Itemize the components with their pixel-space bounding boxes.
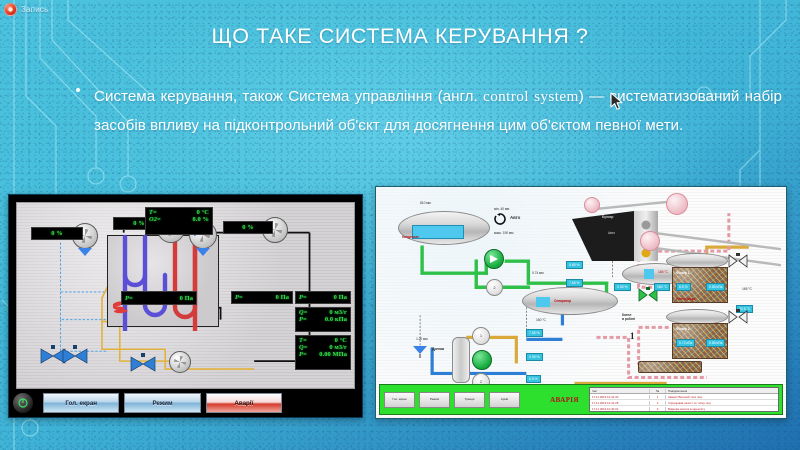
readout-damper-right: 0 %	[223, 221, 273, 234]
label-auto-mode: Авто	[510, 215, 520, 220]
valve-group-mid	[129, 353, 171, 375]
readout-gas-press-2-value: 0 Па	[334, 294, 347, 301]
regen-heater-bed	[638, 361, 702, 373]
readout-gas-press-2-label: P=	[299, 294, 307, 301]
instrument-indicator-2: 1	[472, 327, 490, 345]
label-condensate: Конденсат	[402, 235, 419, 239]
button-mode[interactable]: Режим	[124, 393, 200, 413]
label-separator-tag: 160 °C	[536, 318, 546, 322]
pulley-1	[584, 197, 600, 213]
readout-damper-left-value: 0 %	[51, 230, 62, 237]
boiler-mimic-panel: 0 % 0 % 0 % T= 0 °C O2= 0.0 % P= 0	[16, 202, 355, 389]
label-buffer-tag: 165 °C	[658, 270, 668, 274]
pump-arrow-icon	[488, 253, 500, 265]
button-main-screen[interactable]: Гол. екран	[384, 392, 415, 408]
scada-screenshot-boiler: 0 % 0 % 0 % T= 0 °C O2= 0.0 % P= 0	[8, 194, 363, 418]
boiler-button-bar: Гол. екран Режим Аварії	[43, 391, 282, 415]
readout-damper-left: 0 %	[31, 227, 83, 240]
tag-line-2: 0.05 %	[526, 353, 543, 361]
tag-filter-2-b: 0.85 кПа	[706, 339, 725, 347]
drain-valve-icon	[412, 345, 428, 359]
pulley-3	[640, 231, 660, 251]
label-filter-2: Фільтр 2	[676, 327, 690, 331]
readout-oxygen: O2= 0.0 %	[149, 216, 209, 223]
label-boiler-in-work: Котел в роботі	[622, 313, 635, 321]
label-pipe-d-1: 0.74 мм	[532, 271, 544, 275]
alarm-row-num: 2	[650, 401, 666, 405]
readout-gas-temp: T= 0 °C	[299, 337, 347, 344]
instrument-indicator-1: 2	[486, 279, 503, 296]
vertical-cylinder	[452, 337, 470, 383]
readout-furnace-press-value: 0 Па	[180, 295, 193, 302]
recording-indicator: Запись	[4, 3, 48, 16]
bullet-text-english: control system	[483, 88, 579, 105]
label-separator: Сепаратор	[554, 299, 571, 303]
alarm-table[interactable]: Час № Повідомлення 17.11.2019 10:41:30 1…	[589, 387, 779, 412]
readout-air-flow: Q= 0 м3/г	[299, 309, 347, 316]
label-auto-setpoint-1: мін. 40 мм	[494, 207, 509, 211]
tag-line-1: 7.65 %	[526, 329, 543, 337]
alarm-row-num: 3	[650, 407, 666, 411]
power-knob[interactable]	[12, 392, 34, 414]
readout-gas-flow-value: 0 м3/г	[329, 344, 347, 351]
readout-flue-block: T= 0 °C O2= 0.0 %	[145, 207, 213, 235]
alarm-col-num: №	[650, 389, 666, 393]
tag-valve-1: 0.85 %	[566, 261, 583, 269]
button-archive[interactable]: Архів	[489, 392, 520, 408]
alarm-col-time: Час	[590, 389, 650, 393]
readout-furnace-press: P= 0 Па	[121, 291, 197, 305]
button-home-screen[interactable]: Гол. екран	[43, 393, 119, 413]
button-alarms[interactable]: Аварії	[206, 393, 282, 413]
label-filter-1: Фільтр 1	[676, 271, 690, 275]
label-auto-setpoint-2: макс. 190 мм	[494, 231, 513, 235]
gauge-fan-bottom	[169, 351, 191, 373]
readout-gas-flow: Q= 0 м3/г	[299, 344, 347, 351]
valve-adsorber-1	[728, 253, 748, 269]
label-regeneration: Регенерація	[676, 297, 695, 301]
tag-valve-3: 0.05 %	[614, 283, 631, 291]
alarm-row-msg: Спрацював захист по тиску газу	[666, 401, 778, 405]
label-pipe-d-2: 1.20 мм	[416, 337, 428, 341]
alarm-row-time: 17.11.2019 10:41:28	[590, 401, 650, 405]
readout-flue-temp-value: 0 °C	[197, 209, 209, 216]
readout-air-block: Q= 0 м3/г P= 0.0 кПа	[295, 307, 351, 332]
alarm-row-msg: Аварія! Високий тиск газу	[666, 395, 778, 399]
readout-flue-temp: T= 0 °C	[149, 209, 209, 216]
tag-filter-1-a: 6.5 %	[676, 283, 691, 291]
bullet-text: Система керування, також Система управлі…	[94, 82, 782, 140]
tag-filter-2-a: 0.72 кПа	[676, 339, 695, 347]
scada-screenshot-gas-plant: 810 мм Конденсат мін. 40 мм макс. 190 мм…	[375, 186, 787, 419]
button-trends[interactable]: Тренди	[454, 392, 485, 408]
tag-valve-2: 7.65 %	[566, 279, 583, 287]
readout-gas-flow-label: Q=	[299, 344, 307, 351]
bullet-block: Система керування, також Система управлі…	[76, 82, 782, 140]
readout-gas-press-mpa-value: 0.00 МПа	[319, 351, 347, 358]
auto-cycle-icon	[494, 213, 506, 225]
label-bunker-auto: Авто	[608, 231, 615, 235]
readout-damper-mid-value: 0 %	[133, 220, 144, 227]
readout-gas-temp-label: T=	[299, 337, 307, 344]
button-modes[interactable]: Режим	[419, 392, 450, 408]
valve-adsorber-2	[728, 309, 748, 325]
label-drain: Дренаж	[432, 347, 444, 351]
readout-air-press-value: 0 Па	[276, 294, 289, 301]
readout-damper-right-value: 0 %	[242, 224, 253, 231]
readout-gas-press-mpa-label: P=	[299, 351, 307, 358]
readout-gas-temp-value: 0 °C	[335, 337, 347, 344]
label-boiler-number: 1	[630, 331, 635, 341]
readout-air-flow-label: Q=	[299, 309, 307, 316]
tag-line-3: 6.5 %	[526, 375, 541, 383]
alarm-row-msg: Відмова насоса конденсату	[666, 407, 778, 411]
readout-air-flow-value: 0 м3/г	[329, 309, 347, 316]
tag-valve-6: 160 °C	[654, 283, 670, 291]
alarm-word: АВАРІЯ	[550, 396, 579, 404]
bullet-text-part1: Система керування, також Система управлі…	[94, 88, 483, 105]
readout-oxygen-value: 0.0 %	[193, 216, 209, 223]
damper-left-icon	[77, 247, 93, 257]
readout-air-press-kpa-value: 0.0 кПа	[325, 316, 347, 323]
slide-canvas: Запись ЩО ТАКЕ СИСТЕМА КЕРУВАННЯ ? Систе…	[0, 0, 800, 450]
readout-gas-press-mpa: P= 0.00 МПа	[299, 351, 347, 358]
separator-level-indicator	[536, 297, 550, 307]
alarm-row-time: 17.11.2019 10:41:30	[590, 395, 650, 399]
readout-gas-press-2: P= 0 Па	[295, 291, 351, 304]
readout-air-press: P= 0 Па	[231, 291, 293, 304]
readout-air-press-kpa-label: P=	[299, 316, 307, 323]
damper-right-icon	[195, 247, 211, 257]
bullet-marker	[76, 88, 80, 92]
condensate-level-indicator	[412, 225, 464, 239]
readout-air-press-label: P=	[235, 294, 243, 301]
page-title: ЩО ТАКЕ СИСТЕМА КЕРУВАННЯ ?	[0, 24, 800, 49]
label-bunker: Бункер	[602, 215, 613, 219]
pulley-2	[666, 193, 688, 215]
readout-oxygen-label: O2=	[149, 216, 161, 223]
valve-group-left	[39, 345, 103, 367]
readout-furnace-press-label: P=	[125, 295, 133, 302]
tag-filter-1-b: 0.85 кПа	[706, 283, 725, 291]
label-temp-1: 165 °C	[742, 287, 752, 291]
recording-label: Запись	[21, 5, 48, 14]
label-tank-capacity: 810 мм	[420, 201, 431, 205]
table-row[interactable]: 17.11.2019 10:40:02 3 Відмова насоса кон…	[590, 406, 778, 412]
readout-air-press-kpa: P= 0.0 кПа	[299, 316, 347, 323]
alarm-row-num: 1	[650, 395, 666, 399]
power-icon	[17, 397, 29, 409]
alarm-row-time: 17.11.2019 10:40:02	[590, 407, 650, 411]
alarm-status-bar: Гол. екран Режим Тренди Архів АВАРІЯ Кви…	[379, 384, 783, 415]
record-dot-icon	[4, 3, 17, 16]
readout-flue-temp-label: T=	[149, 209, 157, 216]
pump-main	[472, 350, 492, 370]
readout-gas-block: T= 0 °C Q= 0 м3/г P= 0.00 МПа	[295, 335, 351, 370]
buffer-level-indicator	[644, 269, 654, 279]
alarm-col-msg: Повідомлення	[666, 389, 778, 393]
